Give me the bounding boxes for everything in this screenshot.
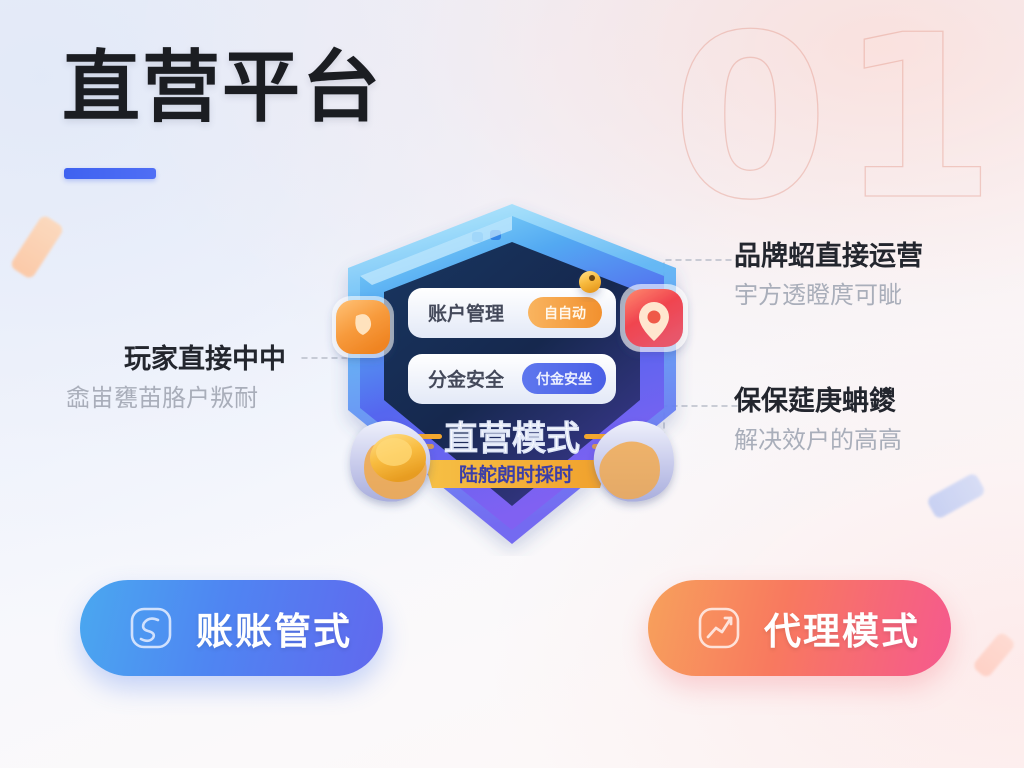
callout-right-bottom-title: 保保莚庚蚺鑁 [734, 386, 902, 418]
shield-row-0-label: 账户管理 [428, 302, 504, 325]
confetti-stripe-pink-right [972, 631, 1017, 679]
shield-row-0-pill: 自自动 [544, 305, 586, 321]
shield-banner-sub: 陆舵朗时採时 [459, 463, 573, 486]
agent-mode-button-label: 代理模式 [764, 601, 920, 655]
confetti-stripe-blue-right [926, 472, 987, 520]
callout-right-bottom: 保保莚庚蚺鑁 解决效户的高高 [734, 386, 902, 455]
shield-row-security: 分金安全 付金安坐 [408, 354, 616, 404]
section-number-watermark: 01 [671, 6, 1006, 232]
direct-management-button[interactable]: 账账管式 [80, 580, 383, 676]
account-shield-icon [126, 603, 176, 653]
direct-operation-shield-illustration: 账户管理 自自动 分金安全 付金安坐 直营模式 [320, 196, 704, 556]
callout-right-top: 品牌蛁直接运营 宇方透瞪庹可眦 [734, 241, 923, 310]
chart-square-icon [694, 603, 744, 653]
agent-mode-button[interactable]: 代理模式 [648, 580, 951, 676]
pin-badge [620, 284, 688, 352]
callout-right-bottom-subtitle: 解决效户的高高 [734, 427, 902, 455]
shield-row-account: 账户管理 自自动 [408, 288, 616, 338]
shield-row-1-label: 分金安全 [428, 368, 505, 391]
callout-left-title: 玩家直接中中 [66, 344, 286, 376]
title-underline-accent [64, 168, 156, 179]
page-title: 直营平台 [62, 48, 382, 126]
direct-management-button-label: 账账管式 [196, 601, 352, 655]
callout-right-top-title: 品牌蛁直接运营 [734, 241, 923, 273]
callout-right-top-subtitle: 宇方透瞪庹可眦 [734, 282, 923, 310]
callout-left-subtitle: 嵞峀甕苖胳户叛耐 [66, 385, 286, 413]
shield-row-1-pill: 付金安坐 [536, 371, 592, 387]
confetti-stripe-orange-left [9, 214, 65, 280]
gold-dot-marker [579, 271, 601, 293]
callout-left: 玩家直接中中 嵞峀甕苖胳户叛耐 [66, 344, 286, 413]
slide-canvas: 01 直营平台 [0, 0, 1024, 768]
shield-banner-title: 直营模式 [444, 420, 580, 458]
leaf-badge [332, 296, 394, 358]
